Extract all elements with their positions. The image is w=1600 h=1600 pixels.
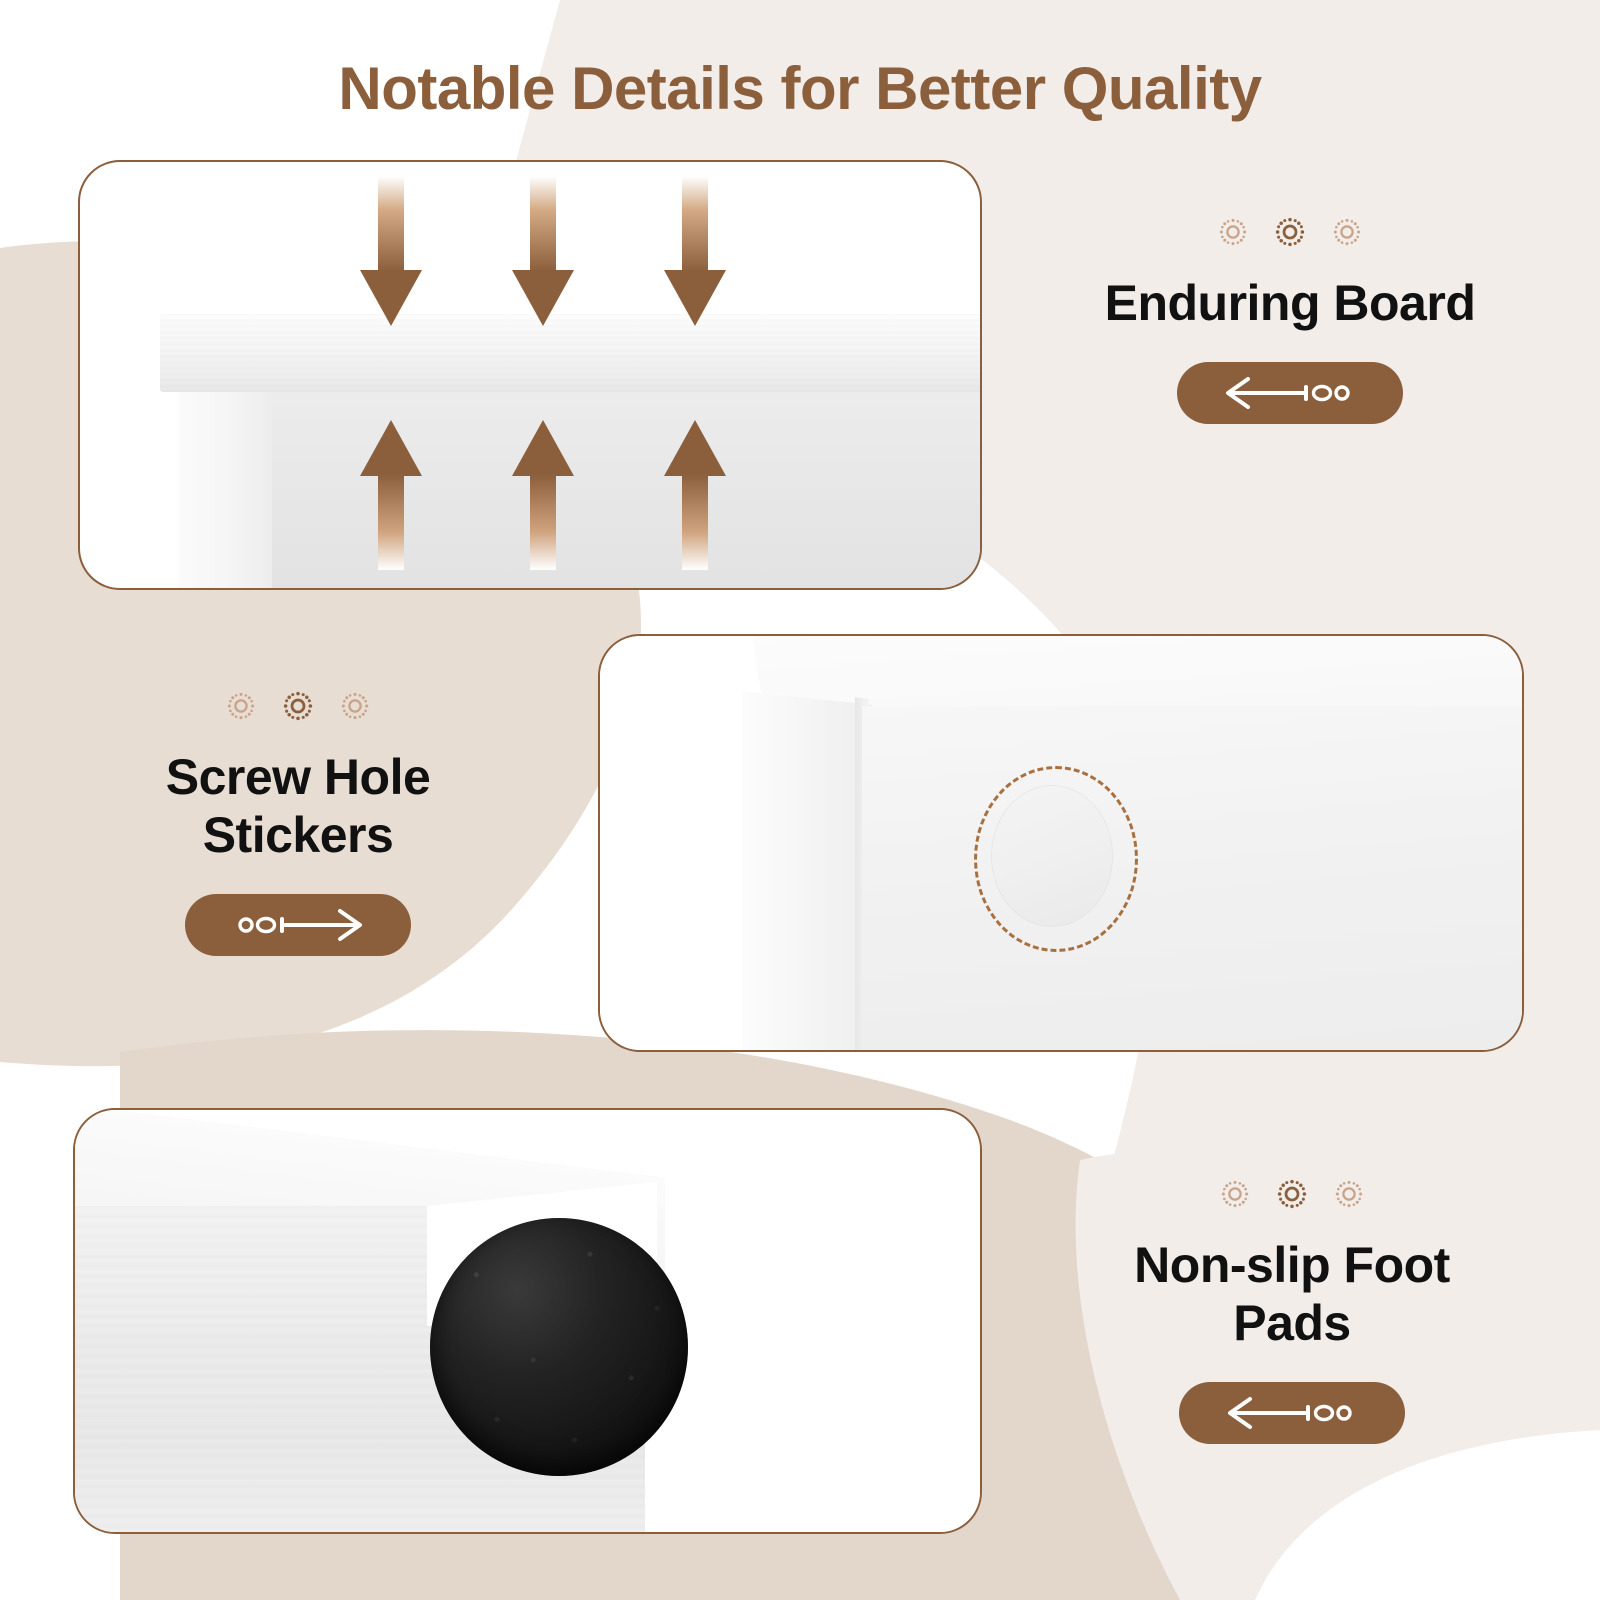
board-leg bbox=[178, 392, 272, 590]
feature-label-text: Enduring Board bbox=[1020, 274, 1560, 332]
pressure-arrow-down-icon bbox=[512, 176, 574, 326]
pressure-arrow-down-icon bbox=[360, 176, 422, 326]
cabinet-side-panel bbox=[742, 691, 872, 1052]
arrow-left-icon bbox=[1222, 1393, 1362, 1433]
feature-label-non-slip-foot-pads: Non-slip Foot Pads bbox=[1022, 1178, 1562, 1444]
sun-icon-dark bbox=[1276, 1178, 1308, 1210]
sun-icon-light bbox=[1334, 1179, 1364, 1209]
sun-icon-light bbox=[1220, 1179, 1250, 1209]
board-pressure-photo bbox=[80, 162, 980, 588]
infographic-stage: Notable Details for Better Quality bbox=[0, 0, 1600, 1600]
sun-icon-light bbox=[226, 691, 256, 721]
sun-icon-light bbox=[340, 691, 370, 721]
feature-label-text: Non-slip Foot Pads bbox=[1022, 1236, 1562, 1352]
sun-icon-group bbox=[58, 690, 538, 722]
sun-icon-dark bbox=[282, 690, 314, 722]
feature-label-text: Screw Hole Stickers bbox=[58, 748, 538, 864]
foot-pad-photo bbox=[75, 1110, 980, 1532]
sun-icon-dark bbox=[1274, 216, 1306, 248]
feature-card-non-slip-foot-pads bbox=[73, 1108, 982, 1534]
sun-icon-light bbox=[1218, 217, 1248, 247]
cabinet-front-panel bbox=[862, 706, 1524, 1052]
arrow-left-icon bbox=[1220, 373, 1360, 413]
sun-icon-group bbox=[1022, 1178, 1562, 1210]
pressure-arrow-up-icon bbox=[512, 420, 574, 570]
pointer-pill-right[interactable] bbox=[185, 894, 411, 956]
dashed-highlight-ellipse bbox=[974, 766, 1138, 952]
feature-card-enduring-board bbox=[78, 160, 982, 590]
pressure-arrow-down-icon bbox=[664, 176, 726, 326]
pointer-pill-left[interactable] bbox=[1179, 1382, 1405, 1444]
page-title: Notable Details for Better Quality bbox=[0, 54, 1600, 123]
pressure-arrow-up-icon bbox=[360, 420, 422, 570]
foam-foot-pad bbox=[430, 1218, 688, 1476]
board-body bbox=[178, 392, 982, 590]
screw-hole-sticker-photo bbox=[600, 636, 1522, 1050]
sun-icon-light bbox=[1332, 217, 1362, 247]
arrow-right-icon bbox=[228, 905, 368, 945]
feature-label-enduring-board: Enduring Board bbox=[1020, 216, 1560, 424]
pointer-pill-left[interactable] bbox=[1177, 362, 1403, 424]
pressure-arrow-up-icon bbox=[664, 420, 726, 570]
feature-label-screw-hole-stickers: Screw Hole Stickers bbox=[58, 690, 538, 956]
feature-card-screw-hole-stickers bbox=[598, 634, 1524, 1052]
sun-icon-group bbox=[1020, 216, 1560, 248]
